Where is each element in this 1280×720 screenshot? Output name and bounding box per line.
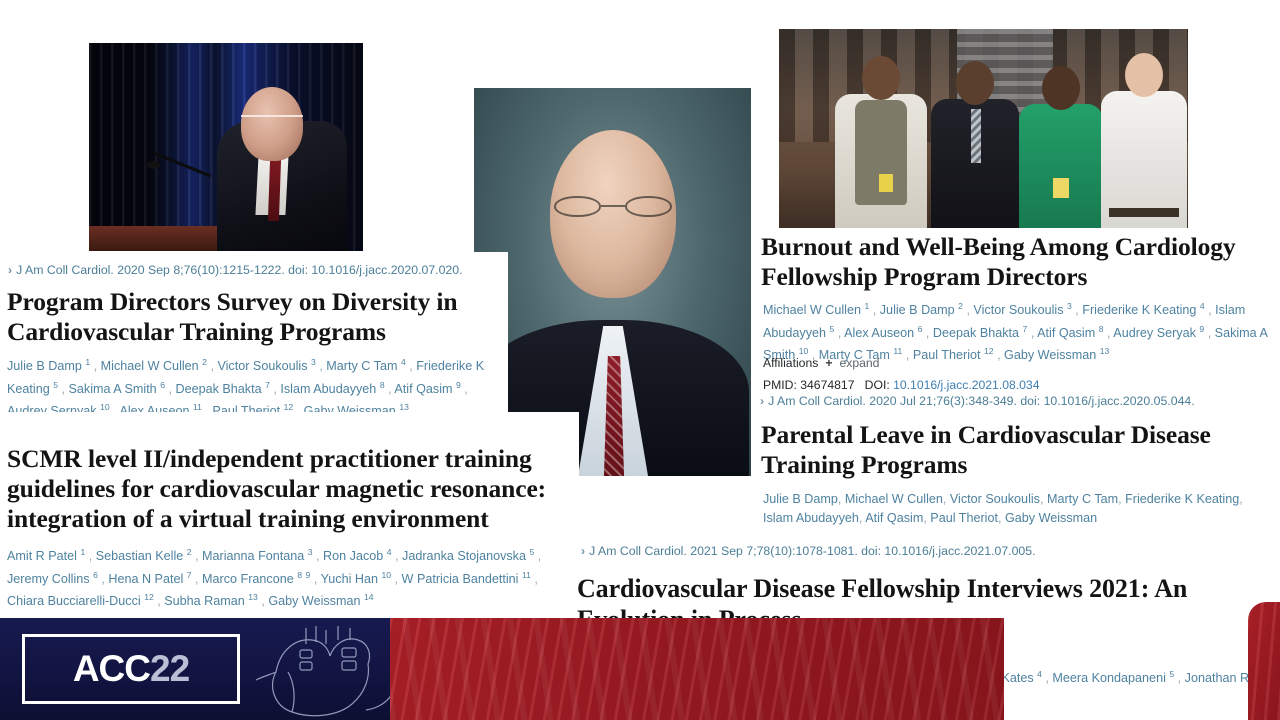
- article-title[interactable]: Burnout and Well-Being Among Cardiology …: [761, 232, 1279, 292]
- group-person-4: [1101, 53, 1187, 231]
- microphone-head: [147, 161, 160, 169]
- doi-link[interactable]: 10.1016/j.jacc.2021.08.034: [893, 378, 1039, 392]
- article-card-scmr-guidelines: SCMR level II/independent practitioner t…: [0, 412, 579, 620]
- article-card-program-directors-survey: ›J Am Coll Cardiol. 2020 Sep 8;76(10):12…: [0, 252, 508, 412]
- right-edge-red-accent: [1248, 602, 1280, 720]
- author-list[interactable]: Julie B Damp 1 , Michael W Cullen 2 , Vi…: [7, 353, 502, 421]
- speaker-tie: [268, 159, 281, 221]
- group-person-3: [1019, 66, 1103, 231]
- author-list[interactable]: Amit R Patel 1 , Sebastian Kelle 2 , Mar…: [7, 543, 572, 611]
- lectern: [89, 226, 229, 251]
- pmid-doi-row: PMID: 34674817 DOI: 10.1016/j.jacc.2021.…: [763, 378, 1039, 392]
- doi-label: DOI:: [865, 378, 890, 392]
- citation-line[interactable]: ›J Am Coll Cardiol. 2021 Sep 7;78(10):10…: [581, 544, 1036, 559]
- speaker-glasses: [241, 115, 303, 124]
- citation-line[interactable]: ›J Am Coll Cardiol. 2020 Jul 21;76(3):34…: [760, 394, 1195, 409]
- affiliations-label: Affiliations: [763, 356, 818, 370]
- speaker-at-podium-photo: [89, 43, 363, 251]
- banner-red-panel: [390, 618, 1004, 720]
- chevron-right-icon: ›: [581, 544, 585, 558]
- article-card-parental-leave: Parental Leave in Cardiovascular Disease…: [752, 410, 1280, 540]
- plus-icon: +: [825, 356, 832, 370]
- acc-wordmark: ACC: [73, 648, 150, 690]
- pmid-label: PMID:: [763, 378, 797, 392]
- pmid-value: 34674817: [800, 378, 854, 392]
- group-photo-lecture-hall: [779, 29, 1188, 231]
- article-title[interactable]: Program Directors Survey on Diversity in…: [7, 287, 507, 347]
- group-person-1: [835, 56, 927, 231]
- author-list[interactable]: Michael W Cullen 1 , Julie B Damp 2 , Vi…: [763, 297, 1279, 365]
- year-wordmark: 22: [150, 648, 189, 690]
- heart-line-art-icon: [246, 620, 396, 720]
- author-list[interactable]: Julie B Damp, Michael W Cullen, Victor S…: [763, 490, 1273, 527]
- article-card-burnout-well-being: Burnout and Well-Being Among Cardiology …: [752, 228, 1280, 410]
- citation-line[interactable]: ›J Am Coll Cardiol. 2020 Sep 8;76(10):12…: [8, 263, 463, 278]
- headshot-glasses: [550, 196, 676, 218]
- slide-canvas: ›J Am Coll Cardiol. 2020 Sep 8;76(10):12…: [0, 0, 1280, 720]
- affiliations-expand-row[interactable]: Affiliations + expand: [763, 356, 879, 370]
- chevron-right-icon: ›: [8, 263, 12, 277]
- chevron-right-icon: ›: [760, 394, 764, 408]
- acc22-logo-frame: ACC22: [22, 634, 240, 704]
- article-title[interactable]: Parental Leave in Cardiovascular Disease…: [761, 420, 1280, 480]
- expand-label: expand: [839, 356, 879, 370]
- article-title[interactable]: SCMR level II/independent practitioner t…: [7, 444, 572, 534]
- speaker-head: [241, 87, 303, 161]
- group-person-2: [931, 61, 1019, 231]
- acc22-logo-text: ACC22: [25, 637, 237, 701]
- acc22-conference-banner: ACC22: [0, 618, 1004, 720]
